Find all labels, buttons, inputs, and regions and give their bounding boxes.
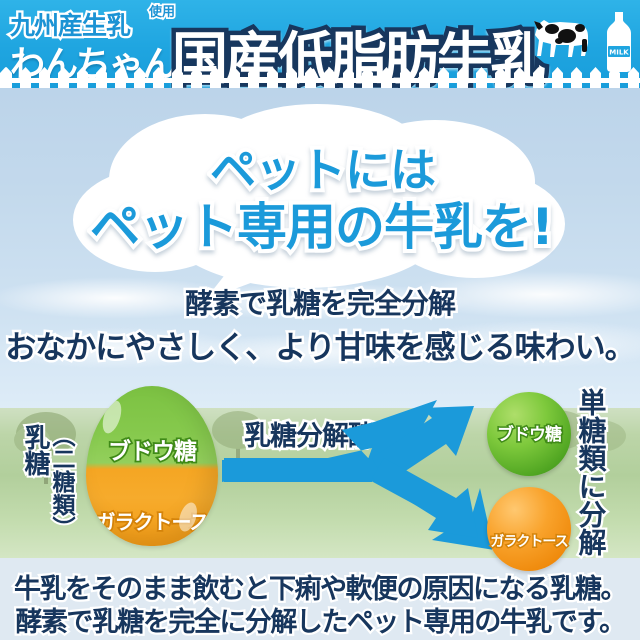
advertisement-banner: 九州産生乳 使用 わんちゃんの 国産低脂肪牛乳 MILK: [0, 0, 640, 640]
lactose-sublabel: （二糖類）: [49, 424, 72, 539]
cloud-message: ペットには ペット専用の牛乳を!: [60, 112, 580, 302]
egg-glucose-label: ブドウ糖: [86, 432, 218, 466]
cow-icon: [530, 12, 594, 70]
splitting-arrow-icon: [222, 400, 492, 555]
header-banner: 九州産生乳 使用 わんちゃんの 国産低脂肪牛乳 MILK: [0, 0, 640, 88]
glucose-sphere-label: ブドウ糖: [487, 420, 571, 445]
lactose-vertical-label: （二糖類） 乳糖: [22, 424, 72, 539]
monosaccharide-vertical-label: 単糖類に分解: [576, 388, 605, 556]
description-line-2: おなかにやさしく、より甘味を感じる味わい。: [0, 322, 640, 367]
galactose-sphere: ガラクトース: [487, 487, 571, 571]
egg-galactose-label: ガラクトース: [86, 506, 218, 535]
picket-fence-divider: [0, 66, 640, 88]
svg-text:MILK: MILK: [609, 49, 629, 57]
description-line-1: 酵素で乳糖を完全分解: [0, 282, 640, 322]
footer-line-2: 酵素で乳糖を完全に分解したペット専用の牛乳です。: [0, 600, 640, 639]
glucose-sphere: ブドウ糖: [487, 392, 571, 476]
lactose-label: 乳糖: [22, 424, 48, 539]
milk-bottle-icon: MILK: [604, 10, 634, 74]
galactose-sphere-label: ガラクトース: [487, 531, 571, 551]
cloud-line-2: ペット専用の牛乳を!: [90, 187, 553, 259]
